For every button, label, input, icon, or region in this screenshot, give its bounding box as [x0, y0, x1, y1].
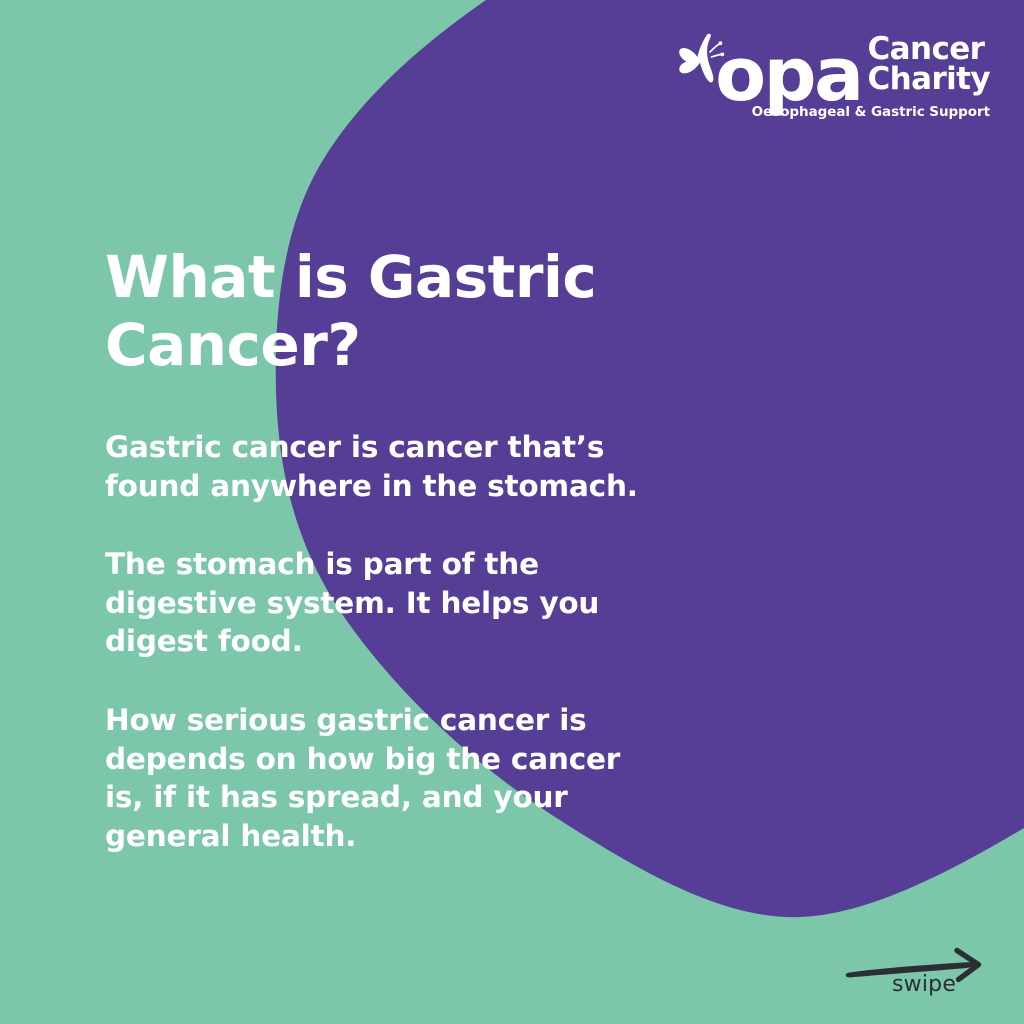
logo-main-row: opa Cancer Charity	[667, 34, 990, 101]
social-card: opa Cancer Charity Oesophageal & Gastric…	[0, 0, 1024, 1024]
logo-subwords: Cancer Charity	[868, 34, 990, 101]
logo-text-stack: opa Cancer Charity Oesophageal & Gastric…	[667, 34, 990, 120]
body-paragraph-2: The stomach is part of the digestive sys…	[105, 545, 665, 661]
page-title: What is Gastric Cancer?	[105, 243, 645, 380]
opa-logo: opa Cancer Charity Oesophageal & Gastric…	[667, 34, 990, 120]
content-block: What is Gastric Cancer? Gastric cancer i…	[105, 243, 705, 856]
swipe-label: swipe	[892, 972, 956, 997]
body-paragraph-1: Gastric cancer is cancer that’s found an…	[105, 428, 665, 505]
logo-word-charity: Charity	[868, 64, 990, 94]
swipe-hint[interactable]: swipe	[845, 946, 990, 1016]
logo-word-cancer: Cancer	[868, 34, 990, 64]
body-paragraph-3: How serious gastric cancer is depends on…	[105, 701, 665, 856]
logo-wordmark: opa	[715, 47, 861, 105]
